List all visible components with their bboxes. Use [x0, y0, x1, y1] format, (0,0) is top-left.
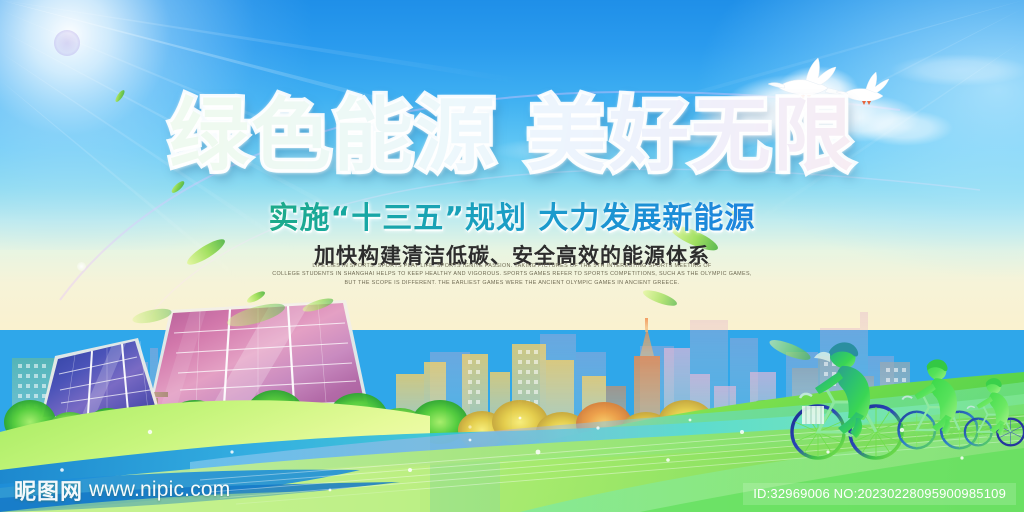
english-line-2: COLLEGE STUDENTS IN SHANGHAI HELPS TO KE… — [0, 270, 1024, 278]
subtitle: 实施“十三五”规划 大力发展新能源 — [0, 193, 1024, 237]
english-line-3: BUT THE SCOPE IS DIFFERENT. THE EARLIEST… — [0, 279, 1024, 287]
watermark-left: 昵图网 www.nipic.com — [14, 474, 230, 506]
watermark-site-name: 昵图网 — [14, 474, 83, 506]
english-line-1: LIFE LIES IN SPORTS. SPORTS PLAY LIFE. S… — [0, 262, 1024, 270]
poster-canvas: 绿色能源 美好无限 绿色能源 美好无限 实施“十三五”规划 大力发展新能源 加快… — [0, 0, 1024, 512]
watermark-site-url: www.nipic.com — [89, 478, 230, 502]
headline-outline: 绿色能源 美好无限 — [0, 96, 1024, 176]
cyclists-group — [786, 332, 1024, 472]
watermark-id-badge: ID:32969006 NO:20230228095900985109 — [743, 483, 1016, 505]
english-paragraph: LIFE LIES IN SPORTS. SPORTS PLAY LIFE. S… — [0, 262, 1024, 287]
